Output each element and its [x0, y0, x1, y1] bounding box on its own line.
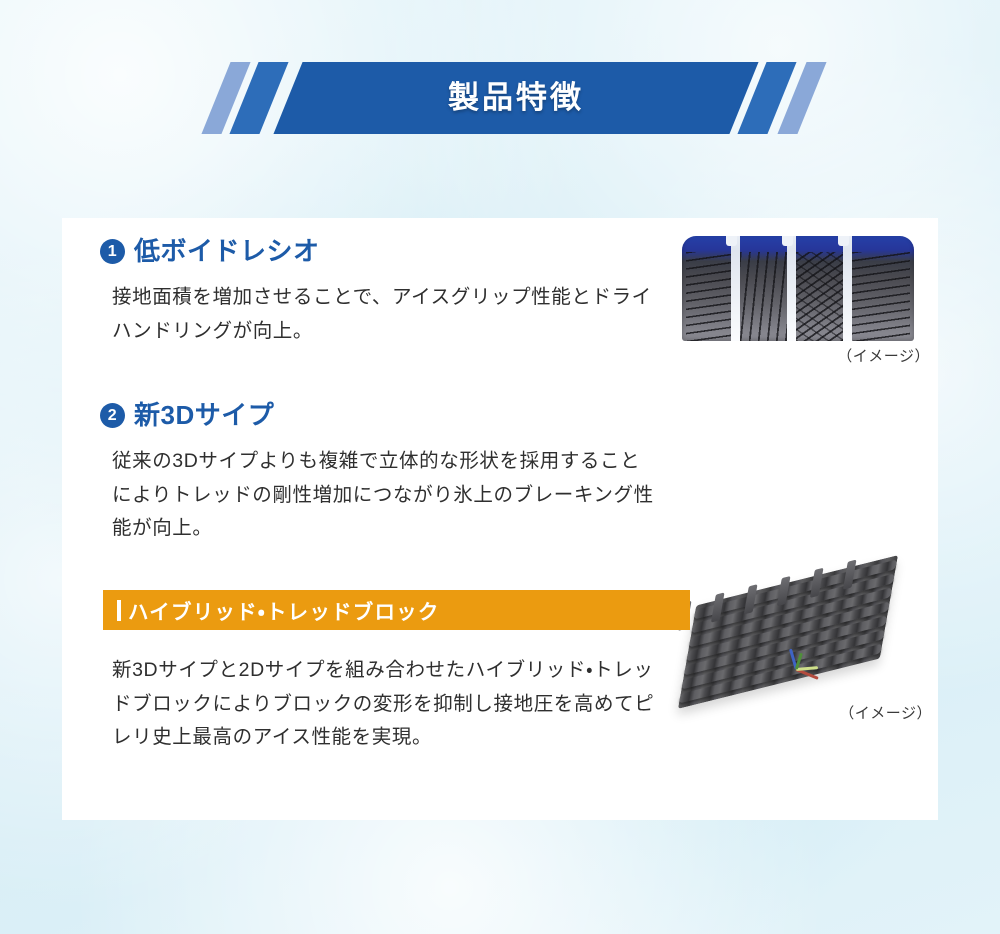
feature-2-heading-label: 新3Dサイプ: [134, 400, 274, 431]
tire-groove-1: [731, 236, 740, 341]
tire-rib-2: [740, 252, 787, 341]
feature-item-2: 2 新3Dサイプ 従来の3Dサイプよりも複雑で立体的な形状を採用することによりト…: [62, 400, 938, 586]
tire-groove-2: [787, 236, 796, 341]
tire-rib-1: [686, 252, 731, 341]
feature-1-text: 1 低ボイドレシオ 接地面積を増加させることで、アイスグリップ性能とドライハンド…: [100, 236, 660, 348]
feature-1-body: 接地面積を増加させることで、アイスグリップ性能とドライハンドリングが向上。: [100, 281, 660, 348]
sipe-fin: [843, 560, 857, 590]
product-features-page: 製品特徴 1 低ボイドレシオ 接地面積を増加させることで、アイスグリップ性能とド…: [0, 0, 1000, 934]
tire-tread-photo: （イメージ）: [660, 236, 932, 366]
feature-2-body: 従来の3Dサイプよりも複雑で立体的な形状を採用することによりトレッドの剛性増加に…: [100, 445, 660, 546]
feature-1-heading-label: 低ボイドレシオ: [134, 236, 320, 267]
hybrid-tread-block-banner: ハイブリッド・トレッドブロック: [103, 590, 690, 630]
features-card: 1 低ボイドレシオ 接地面積を増加させることで、アイスグリップ性能とドライハンド…: [62, 218, 938, 820]
feature-3-body: 新3Dサイプと2Dサイプを組み合わせたハイブリッド・トレッドブロックによりブロッ…: [100, 654, 660, 755]
banner-title: 製品特徴: [232, 62, 800, 134]
tire-rib-4: [852, 252, 910, 341]
tire-shoulder-notch-2: [782, 236, 793, 246]
number-badge-2: 2: [100, 403, 125, 428]
feature-3-heading-label: ハイブリッド・トレッドブロック: [128, 595, 440, 625]
feature-item-1: 1 低ボイドレシオ 接地面積を増加させることで、アイスグリップ性能とドライハンド…: [62, 236, 938, 396]
tire-rib-3: [796, 252, 843, 341]
tire-shoulder-notch-3: [838, 236, 849, 246]
feature-3-text: 新3Dサイプと2Dサイプを組み合わせたハイブリッド・トレッドブロックによりブロッ…: [100, 654, 660, 755]
feature-2-heading: 2 新3Dサイプ: [100, 400, 660, 431]
tire-shoulder-notch-1: [726, 236, 737, 246]
number-badge-1: 1: [100, 239, 125, 264]
section-banner: 製品特徴: [232, 62, 800, 134]
banner-accent-bar: [117, 600, 121, 621]
feature-1-heading: 1 低ボイドレシオ: [100, 236, 660, 267]
tire-image-caption: （イメージ）: [660, 345, 930, 366]
feature-2-text: 2 新3Dサイプ 従来の3Dサイプよりも複雑で立体的な形状を採用することによりト…: [100, 400, 660, 546]
tire-groove-3: [843, 236, 852, 341]
tire-tread-image: [682, 236, 914, 341]
feature-item-3: ハイブリッド・トレッドブロック 新3Dサイプと2Dサイプを組み合わせたハイブリッ…: [62, 590, 938, 810]
